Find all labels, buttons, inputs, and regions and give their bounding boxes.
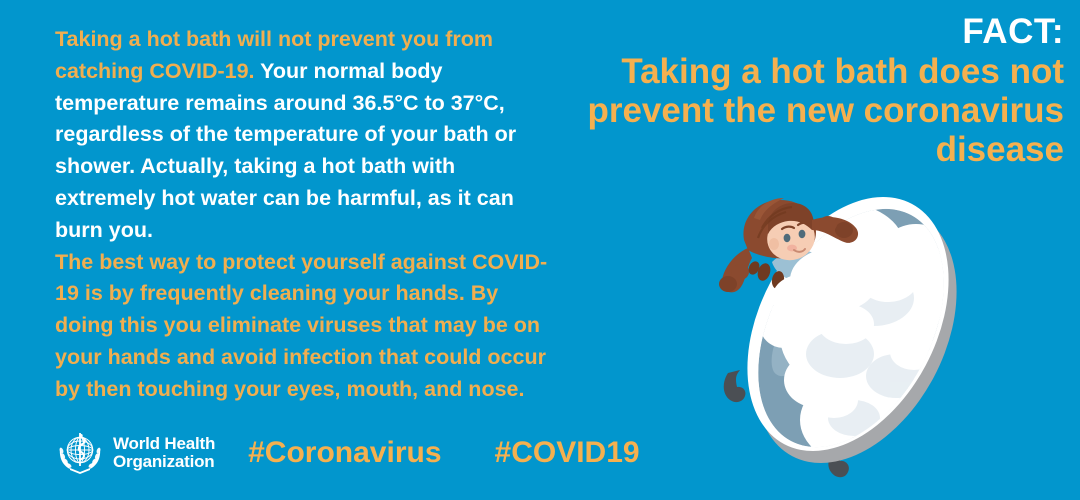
body-copy: Taking a hot bath will not prevent you f… [55, 24, 555, 406]
body-paragraph-2: The best way to protect yourself against… [55, 247, 555, 406]
bathtub-illustration-svg [688, 176, 1028, 486]
hashtag-coronavirus[interactable]: #Coronavirus [248, 436, 441, 470]
who-wordmark-line2: Organization [113, 453, 215, 471]
who-wordmark-line1: World Health [113, 435, 215, 453]
bathtub-illustration [688, 176, 1028, 486]
footer: World Health Organization #Coronavirus #… [55, 424, 640, 482]
fact-label: FACT: [534, 14, 1064, 50]
girl-braid-left [719, 248, 752, 292]
who-emblem-icon [55, 428, 105, 478]
headline-block: FACT: Taking a hot bath does not prevent… [534, 14, 1064, 169]
body-paragraph-1-rest: Your normal body temperature remains aro… [55, 59, 516, 242]
hashtag-covid19[interactable]: #COVID19 [495, 436, 640, 470]
girl-ear [769, 238, 779, 250]
body-paragraph-1: Taking a hot bath will not prevent you f… [55, 24, 555, 247]
who-wordmark: World Health Organization [113, 435, 215, 472]
who-logo: World Health Organization [55, 427, 215, 479]
headline-text: Taking a hot bath does not prevent the n… [534, 52, 1064, 170]
who-covid-fact-poster: FACT: Taking a hot bath does not prevent… [0, 0, 1080, 500]
